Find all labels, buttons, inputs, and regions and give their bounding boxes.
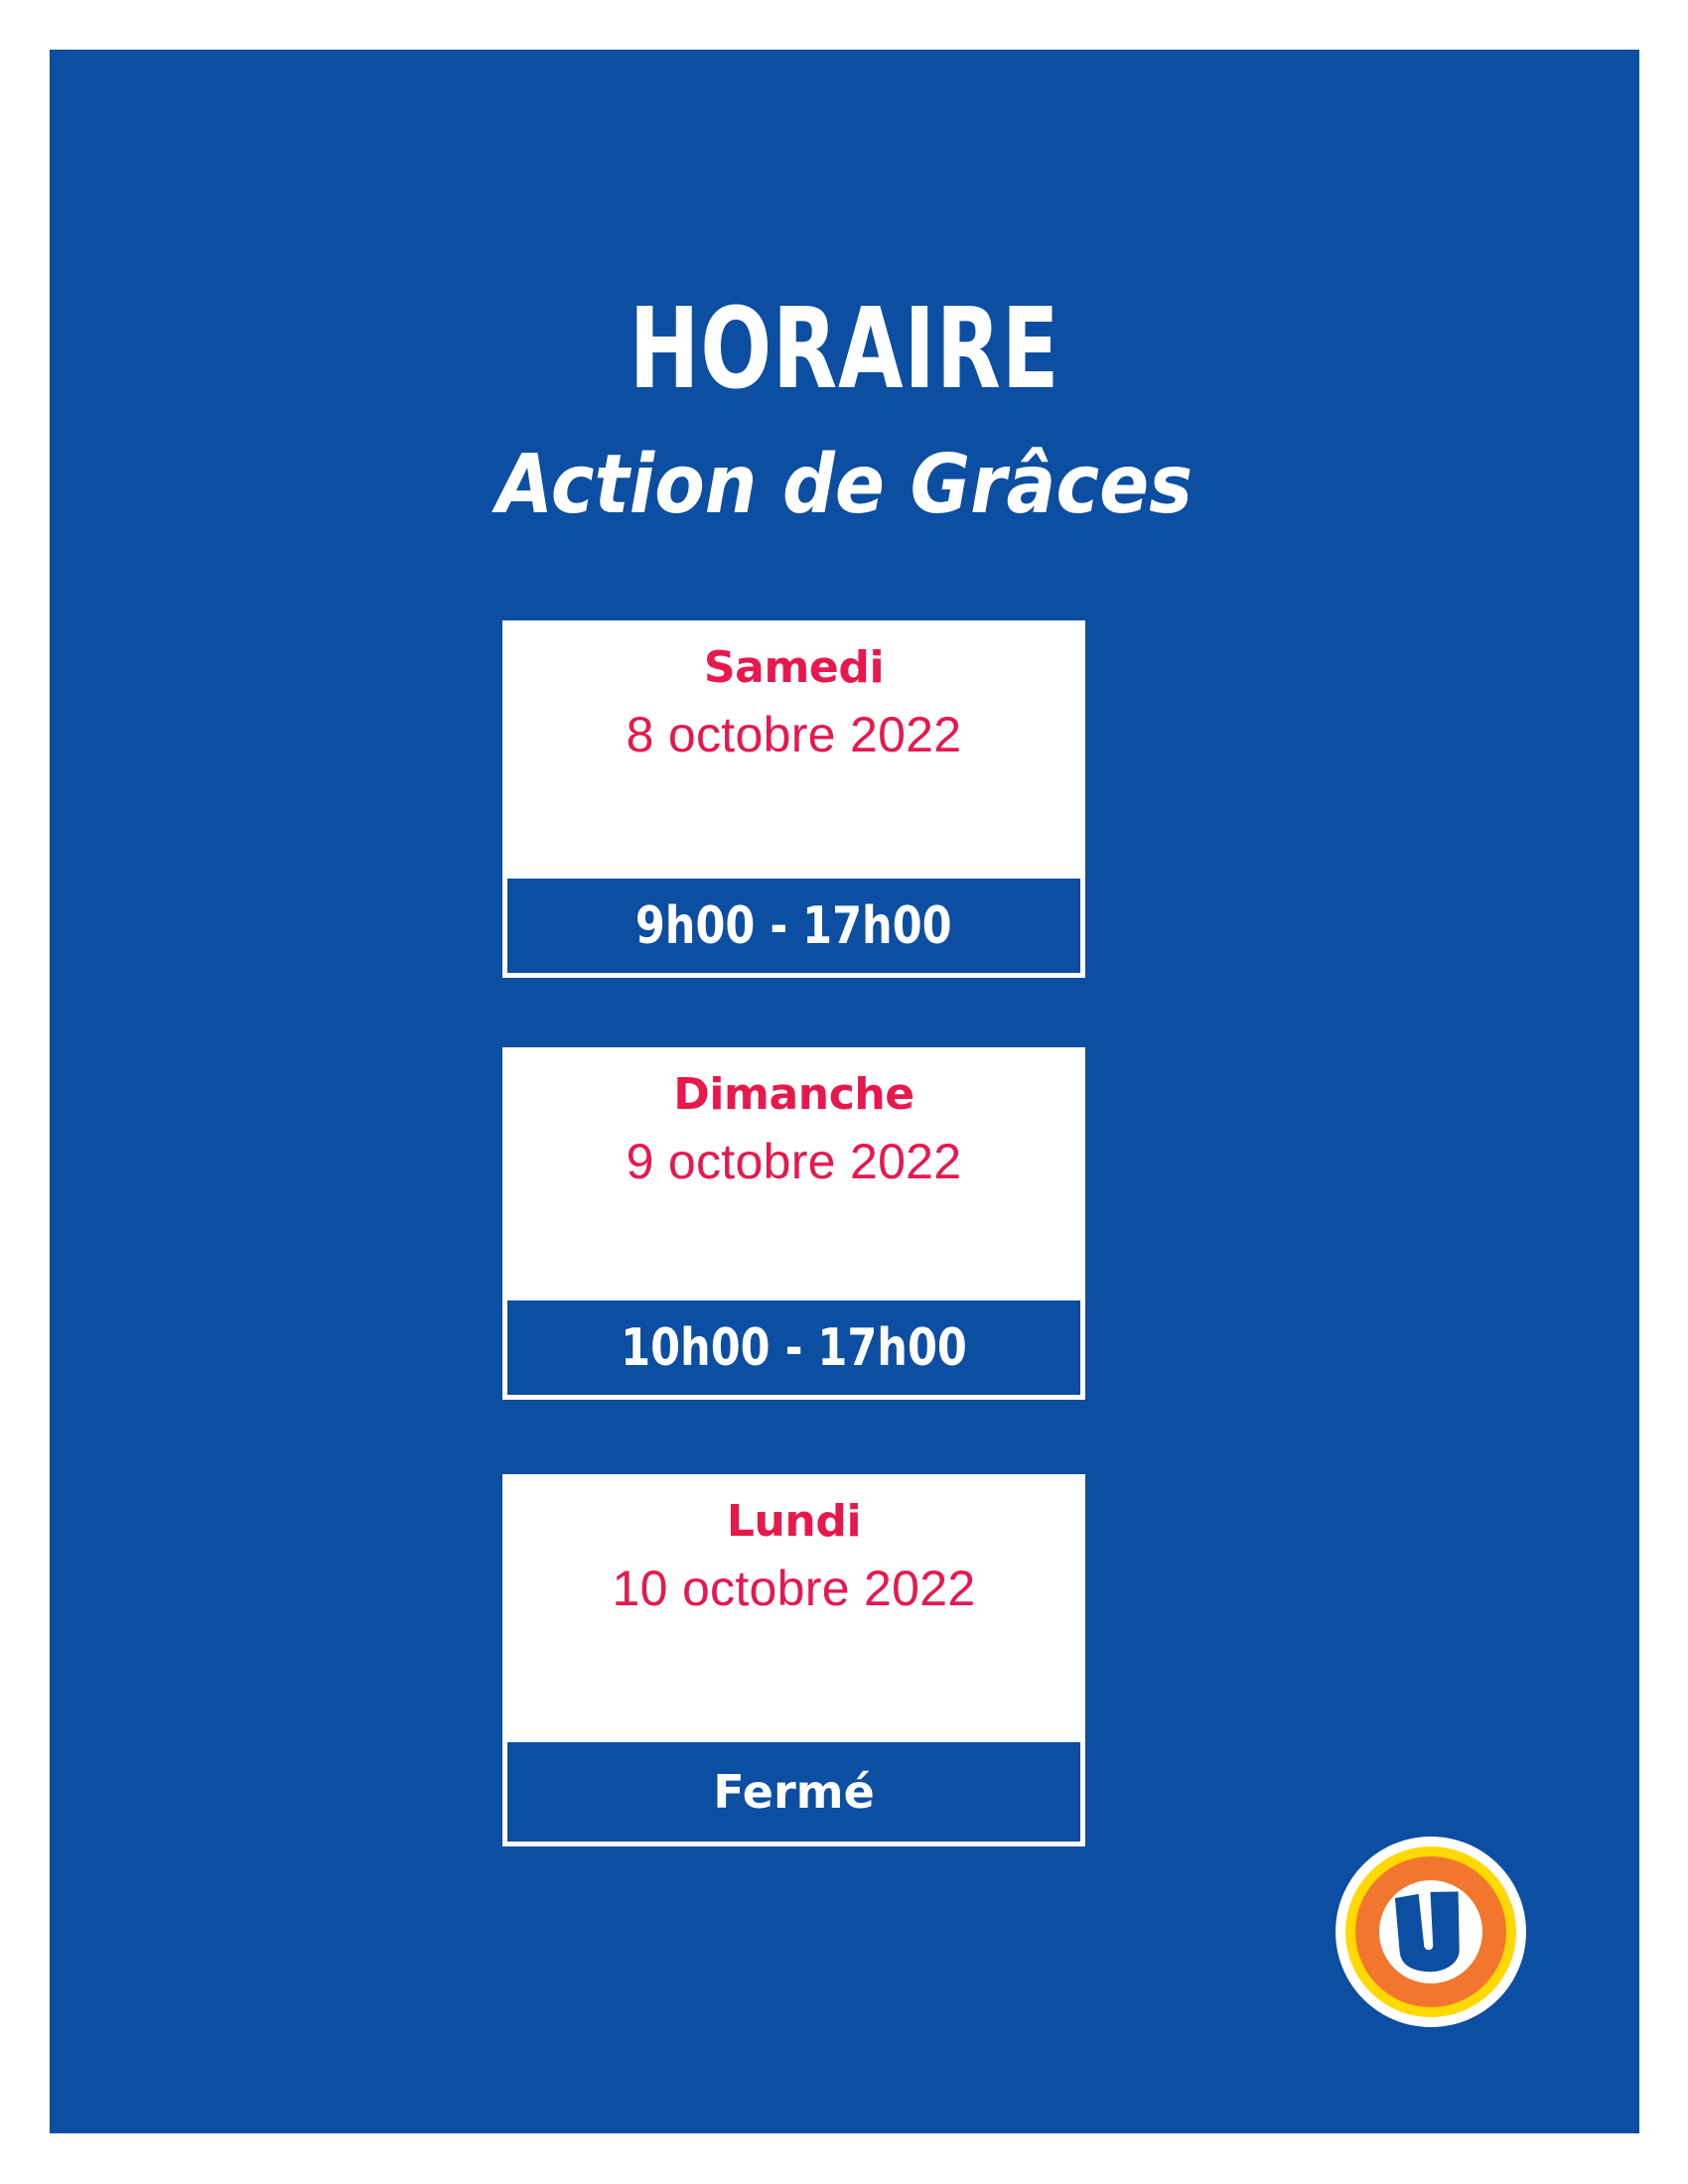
schedule-card-header: Dimanche 9 octobre 2022: [502, 1047, 1085, 1300]
schedule-hours-label: 9h00 - 17h00: [635, 900, 952, 952]
schedule-day-label: Lundi: [502, 1498, 1085, 1546]
logo-inner-disc: [1379, 1880, 1482, 1983]
schedule-date-label: 10 octobre 2022: [502, 1558, 1085, 1620]
schedule-card-header: Samedi 8 octobre 2022: [502, 620, 1085, 879]
schedule-day-label: Dimanche: [502, 1071, 1085, 1119]
logo-yellow-ring: [1345, 1846, 1516, 2017]
page-subtitle: Action de Grâces: [129, 445, 1560, 526]
schedule-card-hours-box: 10h00 - 17h00: [507, 1300, 1080, 1395]
logo-letter-u-icon: [1389, 1888, 1474, 1976]
schedule-card-hours-box: Fermé: [507, 1742, 1080, 1842]
page-title: HORAIRE: [177, 294, 1512, 405]
schedule-date-label: 8 octobre 2022: [502, 704, 1085, 766]
schedule-card-header: Lundi 10 octobre 2022: [502, 1474, 1085, 1742]
schedule-hours-label: Fermé: [713, 1769, 875, 1815]
schedule-hours-label: 10h00 - 17h00: [621, 1322, 967, 1374]
logo-orange-ring: [1355, 1856, 1506, 2007]
poster-page: HORAIRE Action de Grâces Samedi 8 octobr…: [0, 0, 1688, 2184]
schedule-day-label: Samedi: [502, 644, 1085, 692]
schedule-date-label: 9 octobre 2022: [502, 1131, 1085, 1193]
schedule-card: Dimanche 9 octobre 2022 10h00 - 17h00: [502, 1047, 1085, 1400]
schedule-card: Samedi 8 octobre 2022 9h00 - 17h00: [502, 620, 1085, 978]
schedule-card: Lundi 10 octobre 2022 Fermé: [502, 1474, 1085, 1846]
uniprix-logo-icon: [1336, 1837, 1526, 2027]
schedule-card-hours-box: 9h00 - 17h00: [507, 879, 1080, 973]
